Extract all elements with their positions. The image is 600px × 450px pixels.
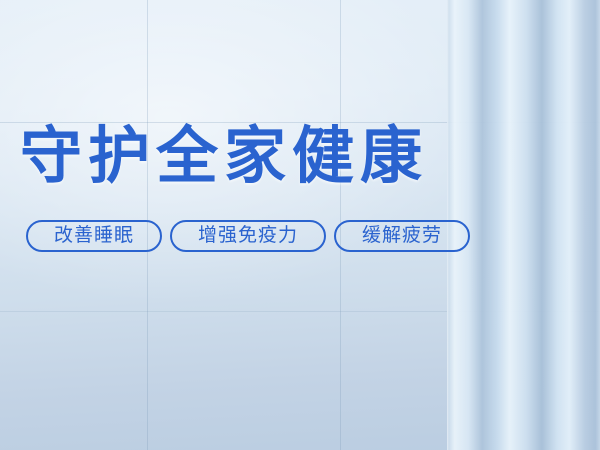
page-title: 守护全家健康 (20, 124, 428, 190)
benefit-pill-improve-sleep[interactable]: 改善睡眠 (26, 220, 162, 252)
benefit-pill-row: 改善睡眠 增强免疫力 缓解疲劳 (26, 220, 470, 252)
health-promo-banner: 守护全家健康 改善睡眠 增强免疫力 缓解疲劳 (0, 0, 600, 450)
benefit-pill-boost-immunity[interactable]: 增强免疫力 (170, 220, 326, 252)
benefit-pill-relieve-fatigue[interactable]: 缓解疲劳 (334, 220, 470, 252)
